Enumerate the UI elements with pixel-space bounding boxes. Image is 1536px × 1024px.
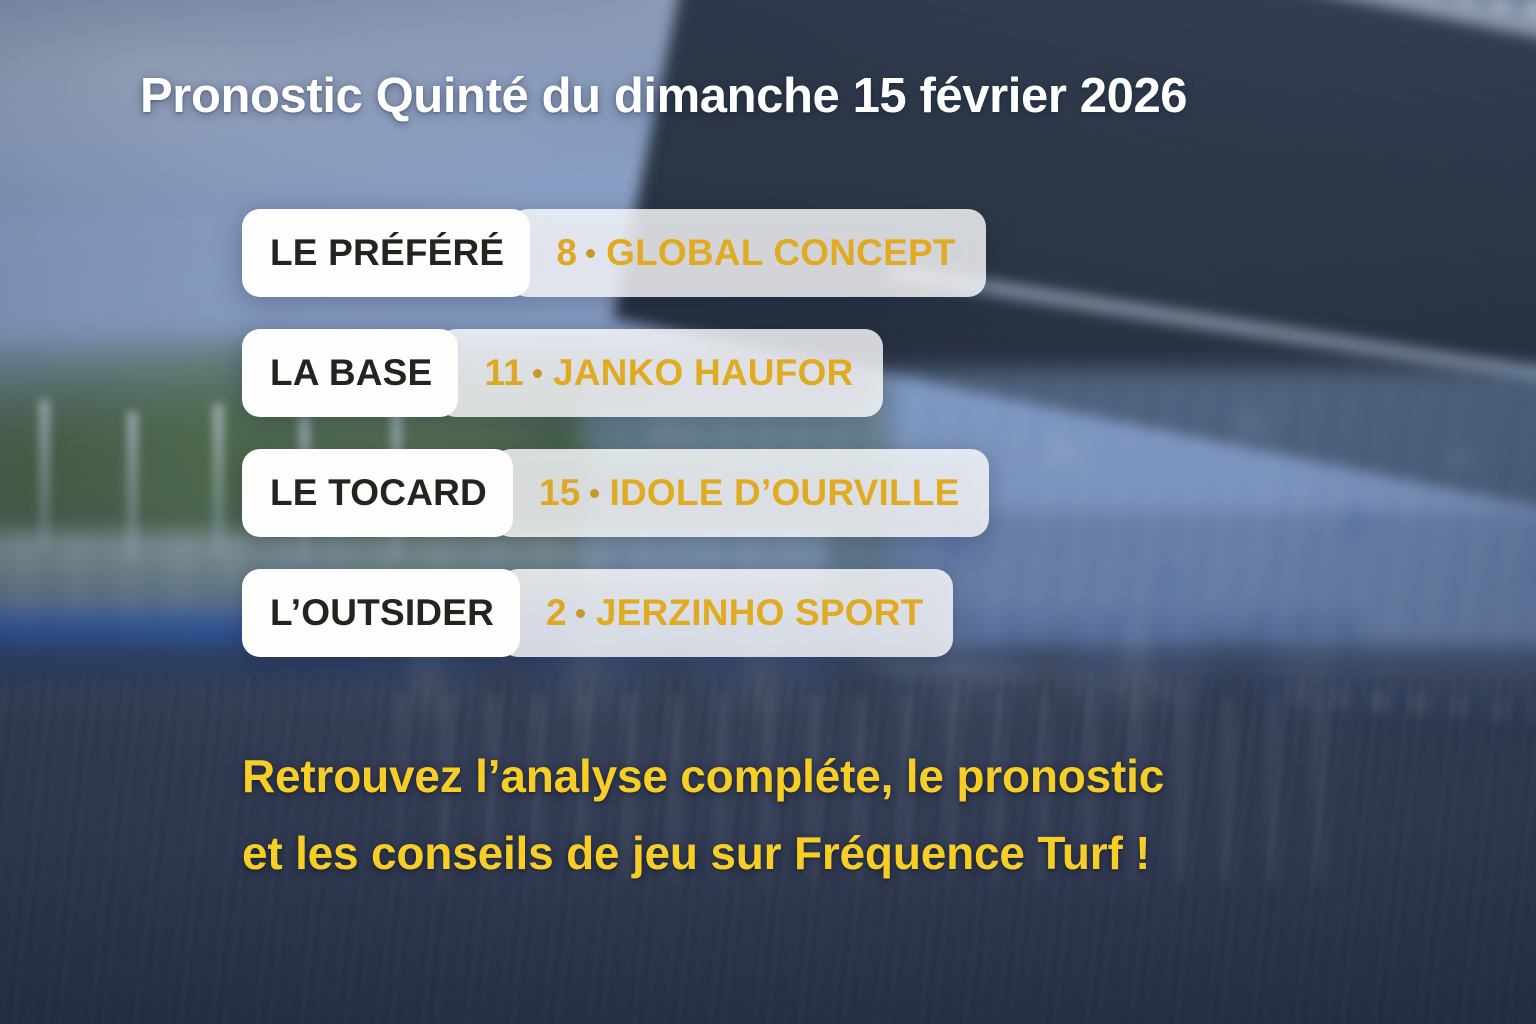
separator-dot-icon	[590, 489, 599, 498]
horse-number: 8	[556, 232, 577, 274]
separator-dot-icon	[576, 609, 585, 618]
prediction-label-prefere: LE PRÉFÉRÉ	[242, 209, 530, 297]
content-layer: Pronostic Quinté du dimanche 15 février …	[0, 0, 1536, 1024]
prediction-pick-prefere: 8 GLOBAL CONCEPT	[510, 209, 985, 297]
prediction-label-tocard: LE TOCARD	[242, 449, 513, 537]
horse-number: 2	[546, 592, 567, 634]
horse-name: GLOBAL CONCEPT	[606, 232, 956, 274]
horse-number: 15	[539, 472, 581, 514]
prediction-pick-base: 11 JANKO HAUFOR	[438, 329, 883, 417]
horse-number: 11	[484, 352, 524, 394]
prediction-label-outsider: L’OUTSIDER	[242, 569, 520, 657]
prediction-row-prefere: LE PRÉFÉRÉ 8 GLOBAL CONCEPT	[242, 209, 986, 297]
separator-dot-icon	[533, 369, 542, 378]
prediction-label-base: LA BASE	[242, 329, 458, 417]
prediction-row-outsider: L’OUTSIDER 2 JERZINHO SPORT	[242, 569, 953, 657]
cta-line-2: et les conseils de jeu sur Fréquence Tur…	[242, 815, 1164, 892]
call-to-action: Retrouvez l’analyse compléte, le pronost…	[242, 738, 1164, 893]
horse-name: IDOLE D’OURVILLE	[610, 472, 960, 514]
prediction-pick-tocard: 15 IDOLE D’OURVILLE	[493, 449, 990, 537]
prediction-row-base: LA BASE 11 JANKO HAUFOR	[242, 329, 883, 417]
page-title: Pronostic Quinté du dimanche 15 février …	[140, 68, 1187, 124]
cta-line-1: Retrouvez l’analyse compléte, le pronost…	[242, 750, 1164, 802]
horse-name: JANKO HAUFOR	[553, 352, 853, 394]
prediction-list: LE PRÉFÉRÉ 8 GLOBAL CONCEPT LA BASE 11 J…	[242, 209, 989, 689]
prediction-pick-outsider: 2 JERZINHO SPORT	[500, 569, 953, 657]
prediction-row-tocard: LE TOCARD 15 IDOLE D’OURVILLE	[242, 449, 989, 537]
separator-dot-icon	[586, 249, 595, 258]
promo-graphic: Pronostic Quinté du dimanche 15 février …	[0, 0, 1536, 1024]
horse-name: JERZINHO SPORT	[596, 592, 924, 634]
